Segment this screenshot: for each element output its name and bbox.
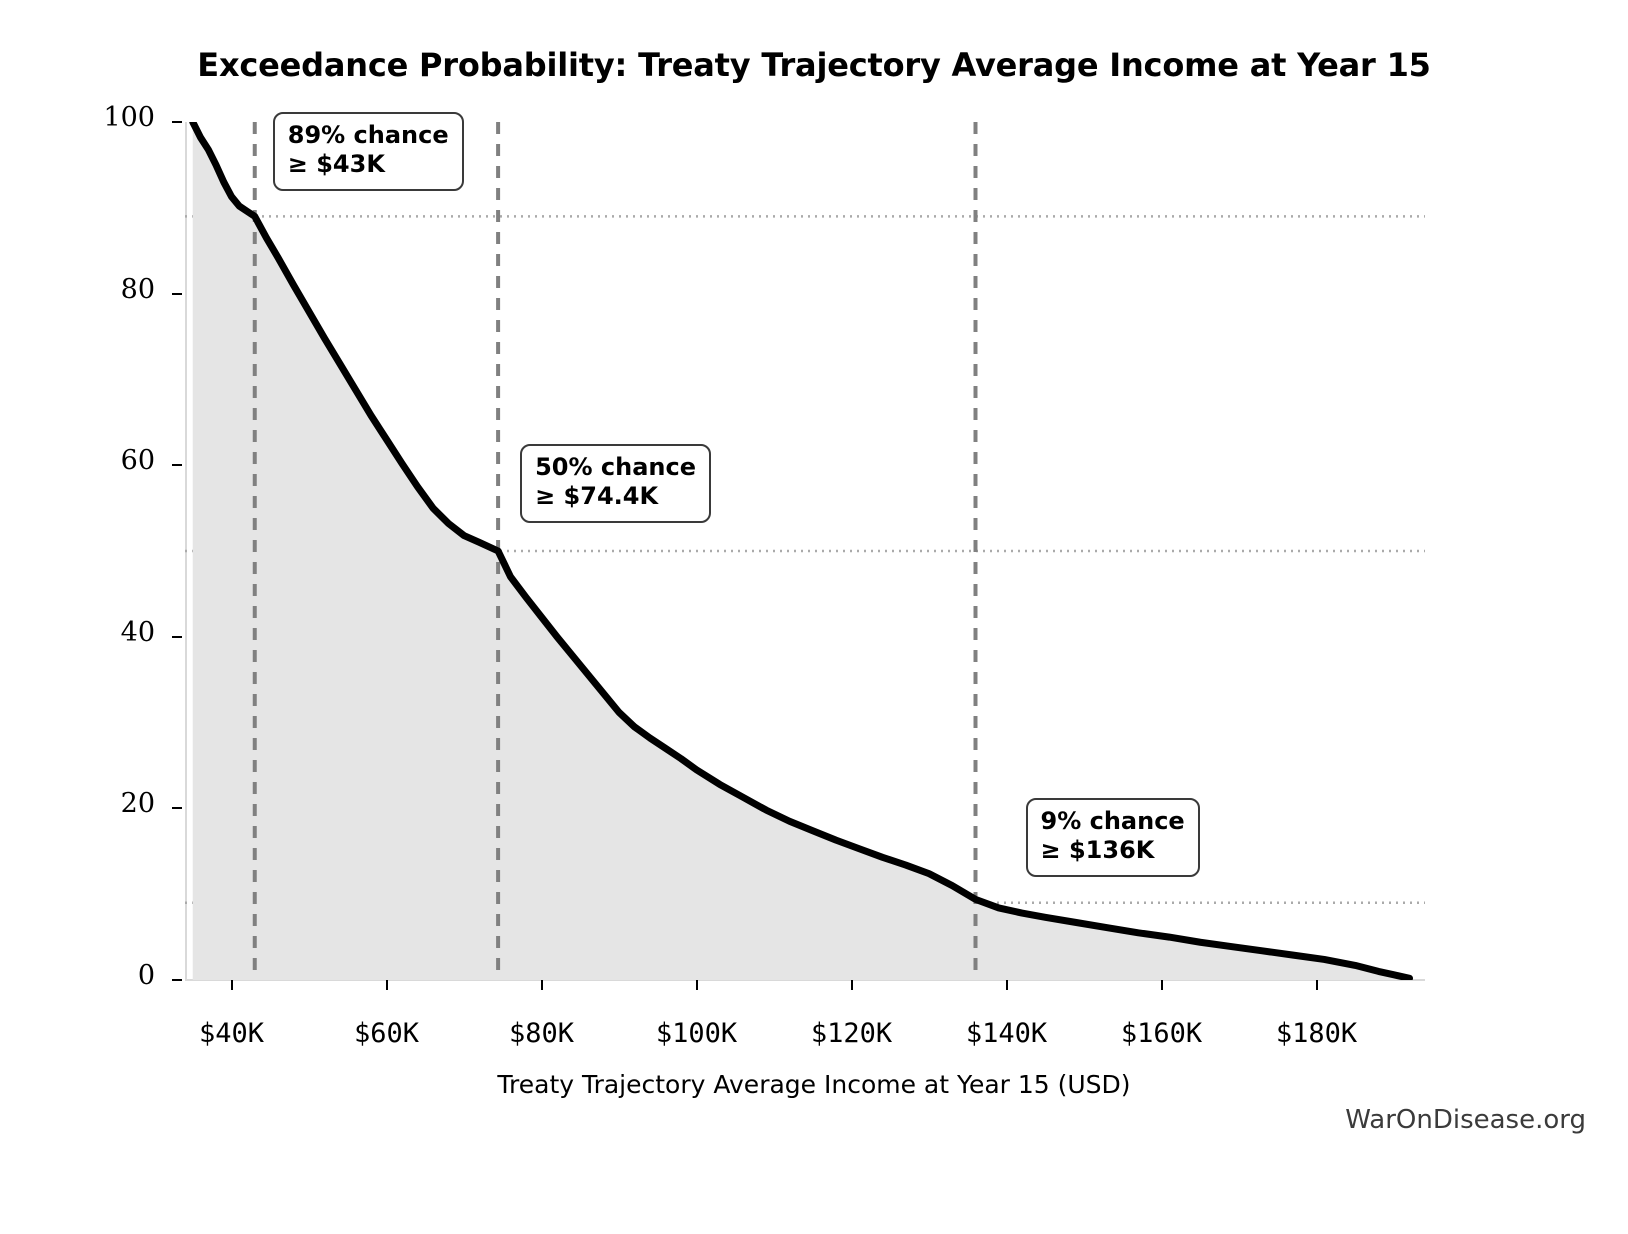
- x-tick-mark: [1161, 980, 1163, 990]
- x-tick-label: $180K: [1237, 1018, 1397, 1049]
- annotation-line1: 50% chance: [535, 453, 696, 481]
- x-tick-mark: [1316, 980, 1318, 990]
- annotation-line2: ≥ $74.4K: [535, 482, 696, 511]
- y-tick-mark: [172, 979, 182, 981]
- y-tick-label: 40: [40, 617, 155, 648]
- chart-title: Exceedance Probability: Treaty Trajector…: [0, 46, 1628, 84]
- y-tick-label: 80: [40, 274, 155, 305]
- x-tick-label: $80K: [462, 1018, 622, 1049]
- annotation-line2: ≥ $43K: [288, 150, 449, 179]
- footer-credit: WarOnDisease.org: [1345, 1105, 1586, 1135]
- x-tick-mark: [1006, 980, 1008, 990]
- annotation-p9: 9% chance≥ $136K: [1026, 798, 1200, 877]
- annotation-line2: ≥ $136K: [1041, 836, 1185, 865]
- exceedance-curve-svg: [185, 122, 1425, 980]
- annotation-p50: 50% chance≥ $74.4K: [520, 444, 711, 523]
- x-tick-mark: [851, 980, 853, 990]
- x-tick-label: $60K: [307, 1018, 467, 1049]
- plot-area: [185, 122, 1425, 980]
- y-tick-mark: [172, 293, 182, 295]
- y-tick-label: 100: [40, 102, 155, 133]
- y-tick-mark: [172, 636, 182, 638]
- y-tick-label: 60: [40, 445, 155, 476]
- exceedance-probability-chart-figure: Exceedance Probability: Treaty Trajector…: [0, 0, 1628, 1234]
- annotation-line1: 89% chance: [288, 121, 449, 149]
- y-tick-mark: [172, 807, 182, 809]
- y-tick-label: 0: [40, 960, 155, 991]
- x-axis-label: Treaty Trajectory Average Income at Year…: [0, 1070, 1628, 1099]
- annotation-p89: 89% chance≥ $43K: [273, 112, 464, 191]
- y-tick-label: 20: [40, 788, 155, 819]
- y-tick-mark: [172, 121, 182, 123]
- x-tick-mark: [386, 980, 388, 990]
- x-tick-label: $40K: [152, 1018, 312, 1049]
- annotation-line1: 9% chance: [1041, 807, 1185, 835]
- x-tick-mark: [696, 980, 698, 990]
- x-tick-label: $160K: [1082, 1018, 1242, 1049]
- x-tick-label: $120K: [772, 1018, 932, 1049]
- x-tick-label: $100K: [617, 1018, 777, 1049]
- x-tick-label: $140K: [927, 1018, 1087, 1049]
- y-tick-mark: [172, 464, 182, 466]
- x-tick-mark: [231, 980, 233, 990]
- x-tick-mark: [541, 980, 543, 990]
